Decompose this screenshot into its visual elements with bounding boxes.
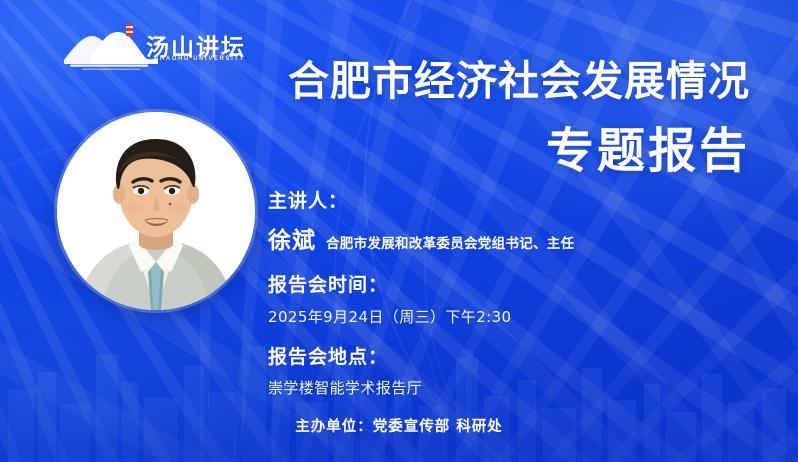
time-value: 2025年9月24日（周三）下午2:30 [268,306,738,327]
organizers-line: 主办单位：党委宣传部 科研处 [0,415,798,436]
speaker-title: 合肥市发展和改革委员会党组书记、主任 [326,232,574,252]
headline-line-1: 合肥市经济社会发展情况 [190,58,750,106]
time-label: 报告会时间： [268,274,738,298]
place-value: 崇学楼智能学术报告厅 [268,377,738,398]
details-spacer-1 [268,255,738,274]
details-spacer-2 [268,327,738,346]
lecture-poster: 汤山讲坛 CHAOHU UNIVERSITY 合肥市经济社会发展情况 专题报告 [0,0,798,462]
place-label: 报告会地点： [268,346,738,370]
speaker-name: 徐斌 [268,221,316,255]
lecture-details: 主讲人： 徐斌 合肥市发展和改革委员会党组书记、主任 报告会时间： 2025年9… [268,190,738,398]
speaker-portrait [57,112,255,310]
headline-line-2: 专题报告 [190,125,750,179]
speaker-photo-illustration [57,112,255,310]
poster-headline: 合肥市经济社会发展情况 专题报告 [190,58,750,178]
speaker-row: 徐斌 合肥市发展和改革委员会党组书记、主任 [268,221,738,255]
speaker-label: 主讲人： [268,190,738,214]
